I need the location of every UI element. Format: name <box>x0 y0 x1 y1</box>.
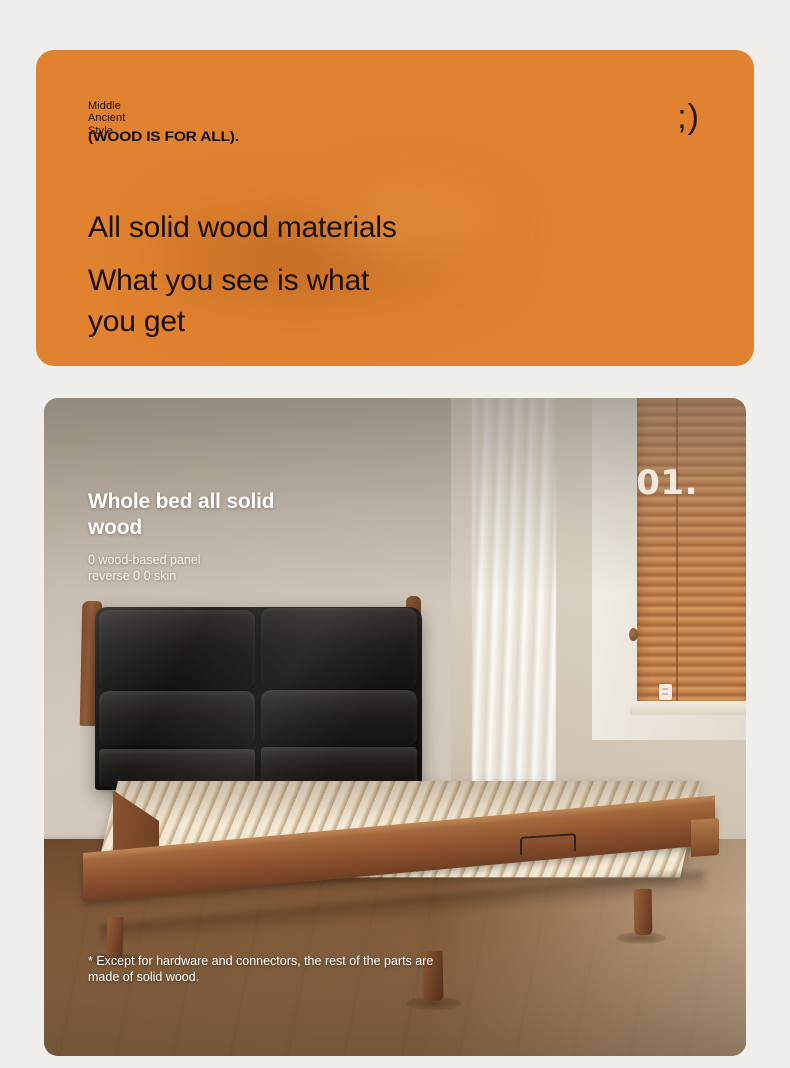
brand-tagline: (WOOD IS FOR ALL). <box>88 130 239 144</box>
bed-leg <box>633 889 652 935</box>
leather-headboard <box>95 607 422 790</box>
headboard-cushion <box>99 610 254 689</box>
headboard-cushion <box>261 608 416 688</box>
photo-card-subtitle: 0 wood-based panel reverse 0 0 skin <box>88 552 201 584</box>
product-photo-card: Whole bed all solid wood 0 wood-based pa… <box>44 398 746 1056</box>
bed-rail-end-cap <box>691 818 719 857</box>
hero-subheadline: What you see is what you get <box>88 260 369 343</box>
headboard-cushion <box>99 691 254 746</box>
brand-logo: Middle Ancient Style (WOOD IS FOR ALL). <box>88 100 239 145</box>
hero-headline: All solid wood materials <box>88 208 397 249</box>
brand-name-line-1: Middle <box>88 100 239 112</box>
photo-card-title: Whole bed all solid wood <box>88 489 274 540</box>
hero-banner-card: Middle Ancient Style (WOOD IS FOR ALL). … <box>36 50 754 366</box>
brand-name-line-2: Ancient <box>88 112 239 124</box>
step-number-badge: 01. <box>636 466 698 500</box>
wink-emoticon-icon: ;) <box>677 100 700 134</box>
headboard-cushion <box>261 690 416 747</box>
metal-lift-handle-icon <box>520 833 576 855</box>
photo-card-footnote: * Except for hardware and connectors, th… <box>88 953 433 986</box>
